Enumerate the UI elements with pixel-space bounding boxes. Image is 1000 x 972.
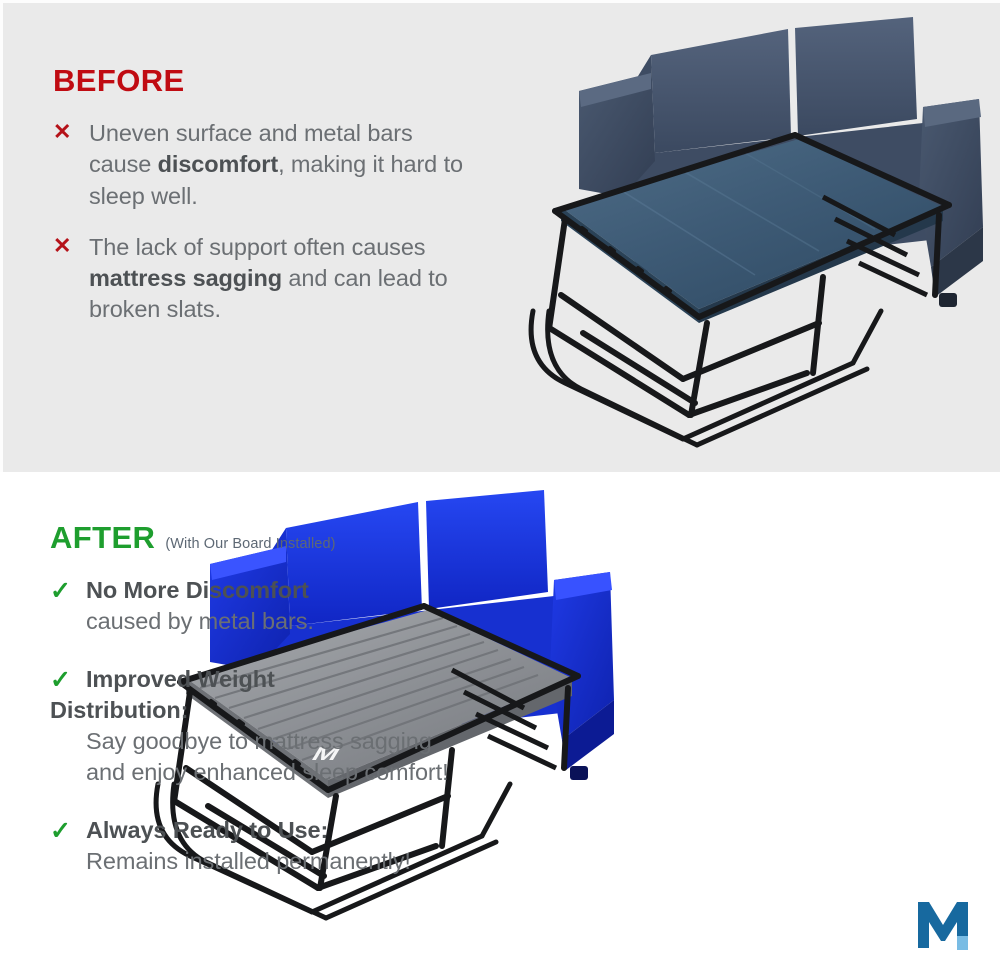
after-bullet-3-text: Always Ready to Use:Remains installed pe… (86, 815, 411, 878)
logo-accent (957, 936, 968, 950)
bullet-2-rest: Say goodbye to mattress sagging and enjo… (86, 728, 449, 785)
after-heading-row: AFTER (With Our Board Installed) (50, 522, 470, 553)
before-copy-block: BEFORE ✕ Uneven surface and metal bars c… (53, 65, 473, 346)
check-icon: ✓ (50, 575, 72, 638)
check-icon: ✓ (50, 664, 72, 789)
after-copy-block: AFTER (With Our Board Installed) ✓ No Mo… (50, 522, 470, 903)
bullet-2-pre: The lack of support often causes (89, 234, 425, 260)
bullet-1-emphasis: discomfort (158, 151, 278, 177)
after-heading: AFTER (50, 522, 155, 553)
before-bullet-1-text: Uneven surface and metal bars cause disc… (89, 118, 473, 212)
after-subnote: (With Our Board Installed) (165, 536, 335, 552)
cross-icon: ✕ (53, 232, 75, 326)
after-bullet-list: ✓ No More Discomfortcaused by metal bars… (50, 575, 470, 877)
before-bullet-list: ✕ Uneven surface and metal bars cause di… (53, 118, 473, 326)
after-bullet-1-text: No More Discomfortcaused by metal bars. (86, 575, 314, 638)
list-item: ✓ No More Discomfortcaused by metal bars… (50, 575, 470, 638)
sofa-bed-without-board-image (383, 11, 1000, 471)
bullet-2-emphasis: mattress sagging (89, 265, 282, 291)
list-item: ✓ Always Ready to Use:Remains installed … (50, 815, 470, 878)
bullet-3-rest: Remains installed permanently! (86, 848, 411, 874)
before-bullet-2-text: The lack of support often causes mattres… (89, 232, 473, 326)
check-icon: ✓ (50, 815, 72, 878)
before-heading: BEFORE (53, 65, 473, 96)
before-panel: BEFORE ✕ Uneven surface and metal bars c… (0, 0, 1000, 475)
bullet-1-lead: No More Discomfort (86, 577, 309, 603)
bullet-2-lead: Improved Weight (86, 666, 275, 692)
list-item: ✕ Uneven surface and metal bars cause di… (53, 118, 473, 212)
bullet-3-lead: Always Ready to Use: (86, 817, 328, 843)
list-item: ✕ The lack of support often causes mattr… (53, 232, 473, 326)
cross-icon: ✕ (53, 118, 75, 212)
list-item: ✓ Improved WeightDistribution:Say goodby… (50, 664, 470, 789)
bullet-2-lead-cont: Distribution: (50, 697, 188, 723)
after-panel: M (0, 472, 1000, 972)
bullet-1-rest: caused by metal bars. (86, 608, 314, 634)
brand-logo (912, 892, 974, 954)
after-bullet-2-text: Improved WeightDistribution:Say goodbye … (86, 664, 470, 789)
